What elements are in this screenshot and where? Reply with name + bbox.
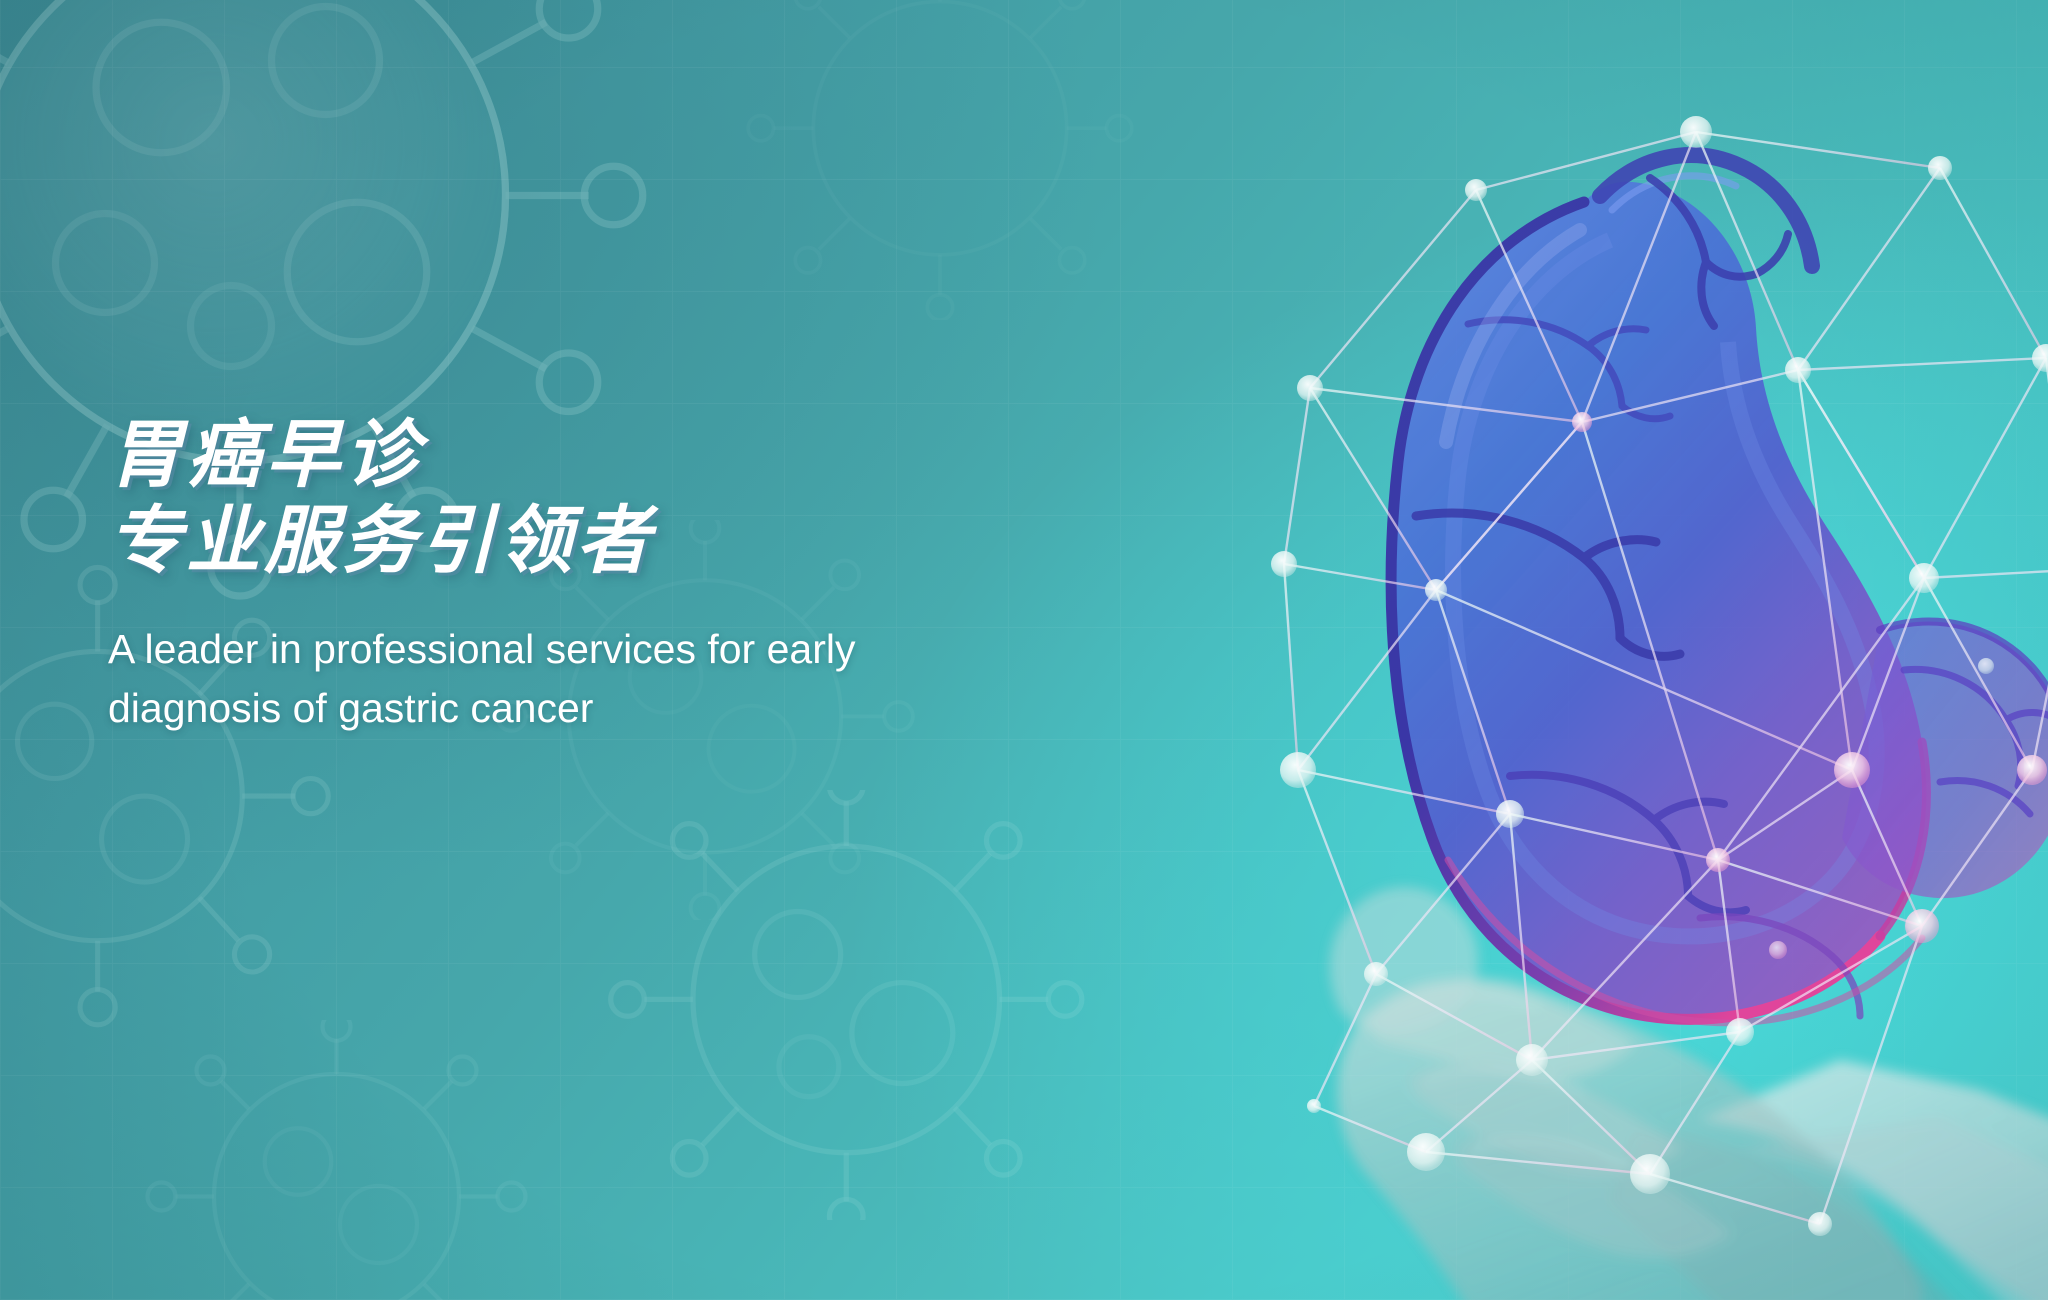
subtitle-line-1: A leader in professional services for ea…: [108, 620, 1108, 679]
subtitle-line-2: diagnosis of gastric cancer: [108, 679, 1108, 738]
virus-cell-icon: [130, 1020, 550, 1300]
page-title: 胃癌早诊 专业服务引领者: [108, 412, 1118, 584]
open-hand-illustration: [1330, 887, 2048, 1300]
promo-banner: 胃癌早诊 专业服务引领者 A leader in professional se…: [0, 0, 2048, 1300]
network-nodes: [1271, 116, 2048, 1236]
page-subtitle: A leader in professional services for ea…: [108, 620, 1108, 739]
stomach-organ-illustration: [1391, 155, 2048, 1023]
virus-cell-icon: [600, 790, 1100, 1220]
stomach-in-hand-artwork: [1180, 70, 2048, 1300]
headline-line-1: 胃癌早诊: [108, 412, 1118, 498]
headline-line-2: 专业服务引领者: [108, 498, 1118, 584]
hero-copy-block: 胃癌早诊 专业服务引领者 A leader in professional se…: [108, 412, 1118, 739]
virus-cell-icon: [740, 0, 1140, 320]
network-mesh: [1284, 132, 2048, 1224]
